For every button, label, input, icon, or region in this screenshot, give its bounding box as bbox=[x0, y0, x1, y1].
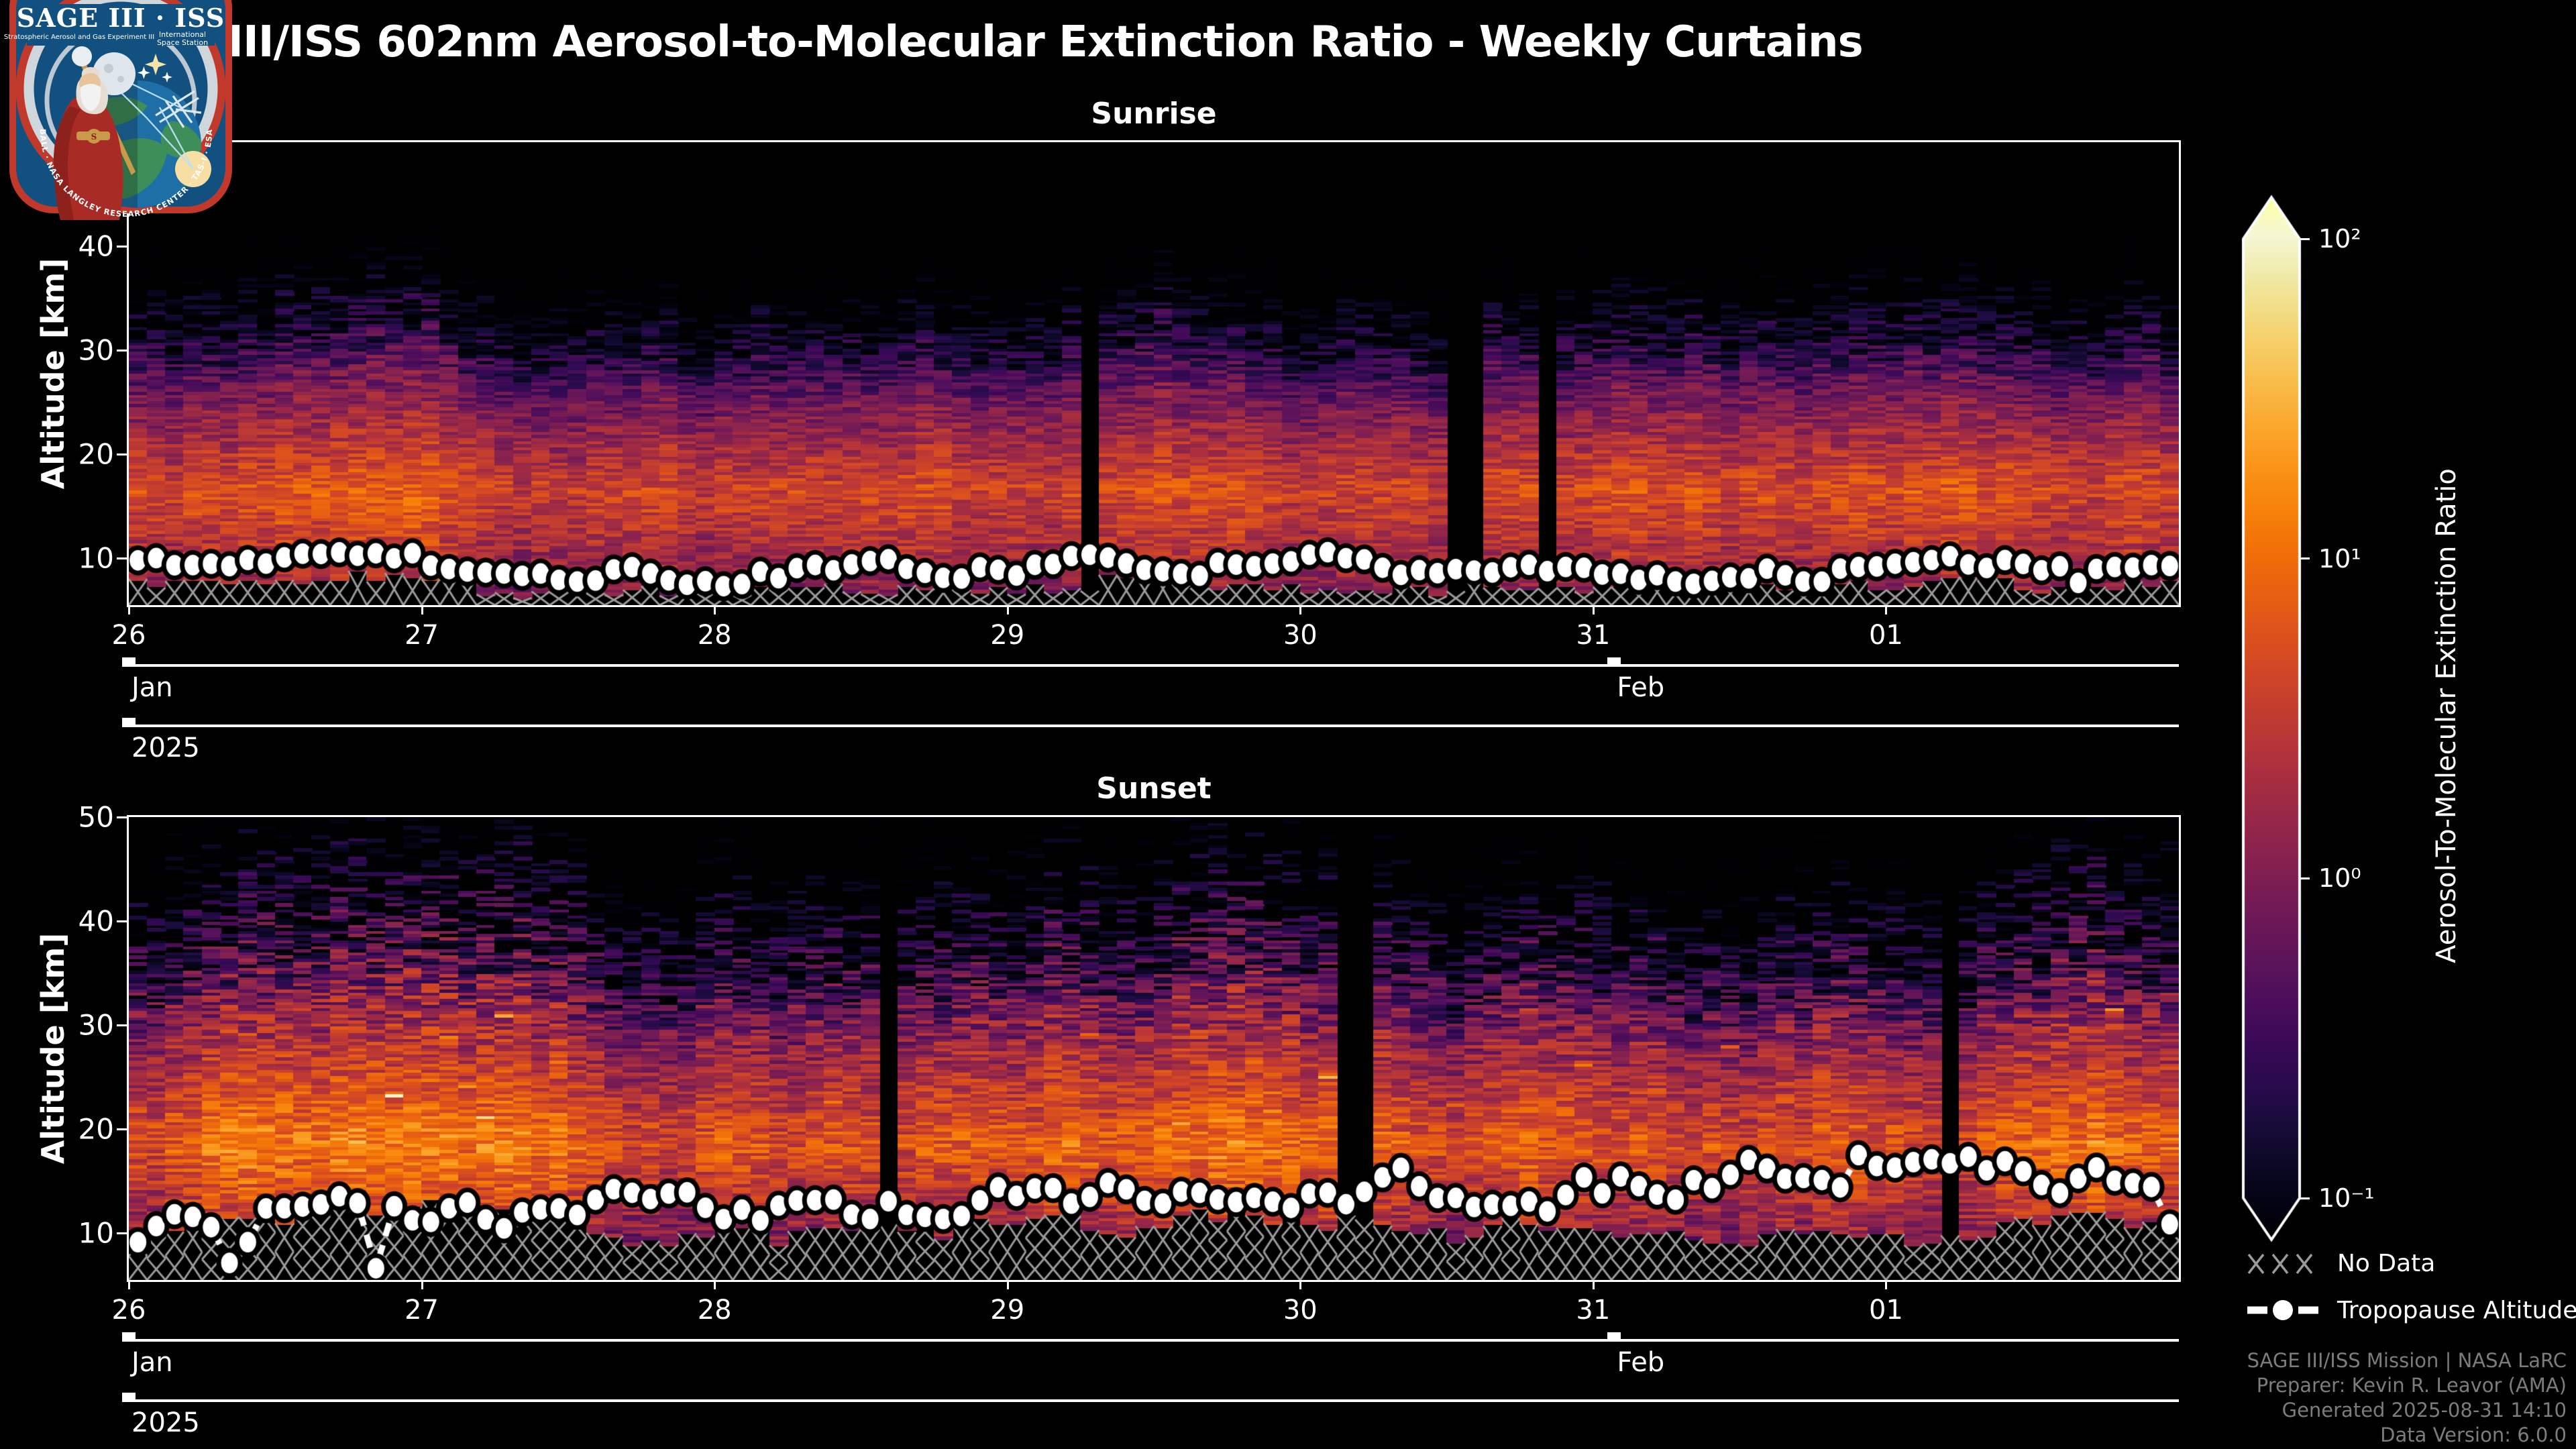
year-label: 2025 bbox=[131, 1407, 200, 1438]
colorbar-tick-label: 10⁰ bbox=[2318, 863, 2361, 893]
year-tick-nub bbox=[122, 1393, 136, 1402]
colorbar-tick-mark bbox=[2300, 1197, 2310, 1199]
colorbar-tick-mark bbox=[2300, 557, 2310, 559]
x-tick-mark bbox=[421, 1280, 423, 1289]
x-tick-label: 28 bbox=[698, 1295, 732, 1326]
colorbar-tick-mark bbox=[2300, 877, 2310, 879]
x-axis-sunset: 26272829303101JanFeb2025 bbox=[0, 0, 2576, 1449]
sage-iii-iss-mission-patch-logo: S BALL · NASA LANGLEY RESEARCH CENTER · … bbox=[0, 0, 241, 224]
x-tick-label: 31 bbox=[1576, 1295, 1610, 1326]
month-tick-nub bbox=[1607, 1332, 1621, 1342]
tropopause-icon bbox=[2246, 1295, 2320, 1326]
x-tick-label: 29 bbox=[990, 1295, 1024, 1326]
x-tick-mark bbox=[714, 1280, 716, 1289]
svg-text:S: S bbox=[91, 132, 97, 142]
x-tick-mark bbox=[128, 1280, 130, 1289]
colorbar[interactable]: 10²10¹10⁰10⁻¹ bbox=[2241, 195, 2304, 1244]
colorbar-tick-label: 10² bbox=[2318, 224, 2361, 254]
year-axis-rule bbox=[129, 1399, 2179, 1402]
logo-subtitle-right-2: Space Station bbox=[157, 38, 208, 47]
logo-title: SAGE III · ISS bbox=[17, 3, 225, 33]
legend-label-no-data: No Data bbox=[2337, 1250, 2435, 1277]
logo-subtitle-left: Stratospheric Aerosol and Gas Experiment… bbox=[4, 34, 154, 41]
footer-line-version: Data Version: 6.0.0 bbox=[2247, 1423, 2567, 1448]
legend-item-no-data: No Data bbox=[2246, 1248, 2435, 1279]
x-tick-label: 27 bbox=[405, 1295, 439, 1326]
x-tick-mark bbox=[1007, 1280, 1009, 1289]
footer-line-mission: SAGE III/ISS Mission | NASA LaRC bbox=[2247, 1348, 2567, 1373]
footer-line-preparer: Preparer: Kevin R. Leavor (AMA) bbox=[2247, 1373, 2567, 1398]
x-tick-label: 26 bbox=[112, 1295, 146, 1326]
colorbar-label-text: Aerosol-To-Molecular Extinction Ratio bbox=[2431, 468, 2462, 963]
month-axis-rule bbox=[129, 1339, 2179, 1342]
month-label: Jan bbox=[131, 1347, 173, 1378]
x-tick-mark bbox=[1299, 1280, 1301, 1289]
x-tick-mark bbox=[1885, 1280, 1887, 1289]
month-tick-nub bbox=[122, 1332, 136, 1342]
month-label: Feb bbox=[1617, 1347, 1664, 1378]
colorbar-tick-mark bbox=[2300, 238, 2310, 240]
colorbar-ticks: 10²10¹10⁰10⁻¹ bbox=[2241, 195, 2576, 1242]
x-tick-label: 01 bbox=[1869, 1295, 1903, 1326]
colorbar-tick-label: 10⁻¹ bbox=[2318, 1183, 2375, 1213]
footer-line-generated: Generated 2025-08-31 14:10 bbox=[2247, 1398, 2567, 1423]
x-tick-label: 30 bbox=[1283, 1295, 1318, 1326]
legend-item-tropopause: Tropopause Altitude bbox=[2246, 1295, 2576, 1326]
colorbar-tick-label: 10¹ bbox=[2318, 544, 2361, 574]
footer-credits: SAGE III/ISS Mission | NASA LaRC Prepare… bbox=[2247, 1348, 2567, 1448]
no-data-icon bbox=[2246, 1248, 2320, 1279]
legend-label-tropopause: Tropopause Altitude bbox=[2337, 1297, 2576, 1324]
x-tick-mark bbox=[1593, 1280, 1595, 1289]
